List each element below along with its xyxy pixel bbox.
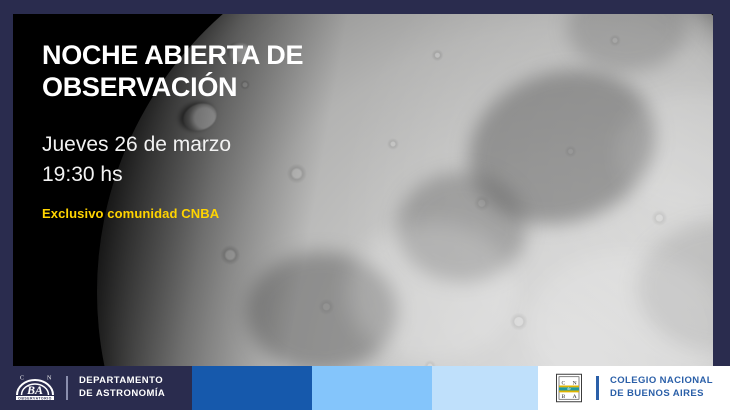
mare-patch [567,14,687,72]
svg-text:C: C [20,376,24,382]
large-crater [297,252,327,276]
highland-bright-area [527,252,713,366]
event-date: Jueves 26 de marzo [42,133,231,156]
poster-copy-block: NOCHE ABIERTA DE OBSERVACIÓN Jueves 26 d… [42,40,342,221]
svg-text:C: C [562,380,566,386]
svg-text:BA: BA [26,383,43,397]
footer-divider [66,376,68,400]
school-line-1: COLEGIO NACIONAL [610,375,713,386]
department-line-2: DE ASTRONOMÍA [79,388,165,401]
mare-patch [247,252,397,366]
highland-bright-area [617,92,713,212]
cnba-crest-icon: C N de B A [554,373,584,403]
svg-text:N: N [47,376,52,382]
footer-bar: C N BA OBSERVATORIO DEPARTAMENTO DE ASTR… [0,366,730,410]
mare-patch [637,222,713,352]
headline-line-2: OBSERVACIÓN [42,72,342,104]
hero-image-moon: NOCHE ABIERTA DE OBSERVACIÓN Jueves 26 d… [13,14,713,366]
department-name: DEPARTAMENTO DE ASTRONOMÍA [79,375,165,400]
footer-color-block-3 [432,366,538,410]
school-name: COLEGIO NACIONAL DE BUENOS AIRES [610,375,713,400]
svg-text:B: B [562,394,566,400]
observatorio-logo-icon: C N BA OBSERVATORIO [14,373,56,403]
headline-line-1: NOCHE ABIERTA DE [42,40,303,70]
exclusive-note: Exclusivo comunidad CNBA [42,206,342,221]
poster-root: NOCHE ABIERTA DE OBSERVACIÓN Jueves 26 d… [0,0,730,410]
event-time: 19:30 hs [42,160,342,190]
footer-observatory-section: C N BA OBSERVATORIO DEPARTAMENTO DE ASTR… [0,366,192,410]
mare-patch [397,172,527,282]
school-divider [596,376,599,400]
event-datetime: Jueves 26 de marzo 19:30 hs [42,130,342,190]
footer-school-section: C N de B A COLEGIO NACIONAL DE BUENOS AI… [538,366,730,410]
department-line-1: DEPARTAMENTO [79,375,163,386]
svg-text:N: N [573,380,577,386]
svg-text:OBSERVATORIO: OBSERVATORIO [18,397,52,401]
poster-headline: NOCHE ABIERTA DE OBSERVACIÓN [42,40,342,104]
footer-color-block-1 [192,366,312,410]
footer-color-block-2 [312,366,432,410]
mare-patch [448,46,675,247]
school-line-2: DE BUENOS AIRES [610,388,713,401]
svg-text:de: de [567,387,571,391]
highland-bright-area [347,222,517,362]
